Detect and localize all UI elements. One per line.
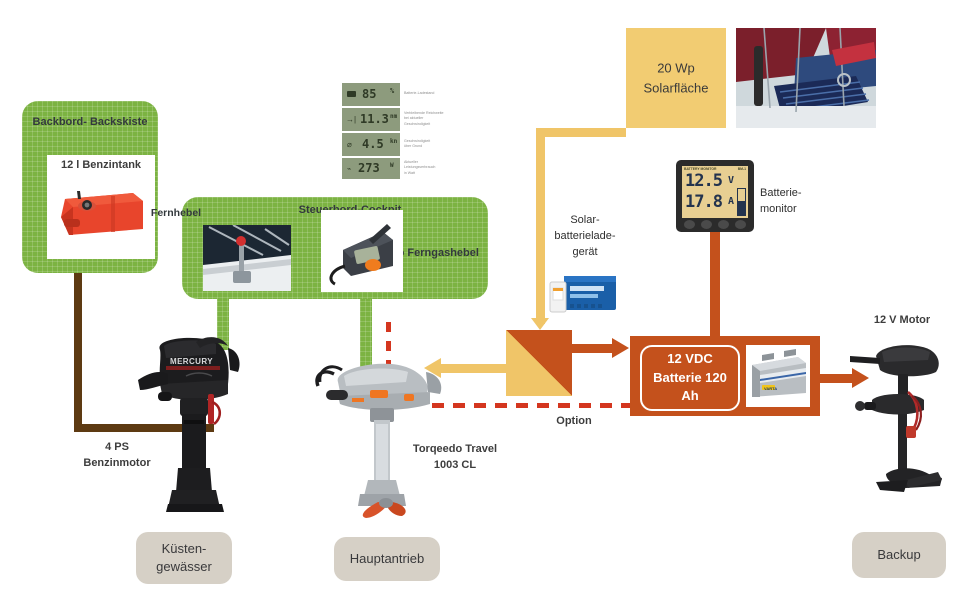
group-backbord-backskiste[interactable]: Backbord- Backskiste 12 l Benzintank bbox=[22, 101, 158, 273]
diagram-canvas: Backbord- Backskiste 12 l Benzintank bbox=[0, 0, 972, 600]
battery-monitor-current-unit: A bbox=[728, 196, 734, 207]
node-power-switch[interactable] bbox=[506, 330, 572, 396]
lcd-row-1-value: 11.3 bbox=[360, 112, 389, 126]
label-solar-charger: Solar- batterielade- gerät bbox=[538, 213, 632, 261]
throttle-lever-icon bbox=[203, 225, 291, 291]
device-battery-monitor[interactable]: BATTERY MONITOR BM-1 12.5 V 17.8 A bbox=[676, 160, 754, 232]
monitor-button-1-icon[interactable] bbox=[684, 220, 695, 229]
speed-icon: ⌀ bbox=[347, 140, 352, 149]
group-steuerbord-cockpit[interactable]: Fernhebel Steuerbord-Cockpit Torqeedo Fe… bbox=[182, 197, 488, 299]
battery-monitor-buttons[interactable] bbox=[684, 220, 746, 229]
battery-level-gauge-icon bbox=[737, 188, 746, 216]
outboard-motor-icon: MERCURY bbox=[124, 332, 254, 520]
lcd-row-2-desc: Geschwindigkeit über Grund bbox=[404, 139, 430, 150]
arrowhead-solar-down bbox=[531, 318, 549, 330]
pill-hauptantrieb[interactable]: Hauptantrieb bbox=[334, 537, 440, 581]
lcd-row-3-value: 273 bbox=[358, 161, 380, 175]
trolling-motor-icon bbox=[846, 330, 958, 520]
lcd-row-2-value: 4.5 bbox=[362, 137, 384, 151]
battery-monitor-model: BM-1 bbox=[738, 167, 746, 171]
node-battery-label: 12 VDC Batterie 120 Ah bbox=[640, 345, 740, 411]
label-torqeedo-travel: Torqeedo Travel 1003 CL bbox=[400, 442, 510, 474]
mppt-charger-icon bbox=[548, 268, 620, 318]
battery-monitor-voltage: 12.5 bbox=[685, 171, 722, 191]
lcd-row-3-desc: Aktueller Leistungsverbrauch in Watt bbox=[404, 160, 435, 176]
photo-varta-battery[interactable]: VARTA bbox=[746, 345, 810, 407]
remote-throttle-icon bbox=[321, 210, 403, 292]
monitor-button-3-icon[interactable] bbox=[718, 220, 729, 229]
group-battery[interactable]: 12 VDC Batterie 120 Ah VARTA bbox=[630, 336, 820, 416]
lcd-row-0-unit: % bbox=[390, 87, 394, 95]
label-mercury: 4 PS Benzinmotor bbox=[62, 440, 172, 472]
connector-solar-horizontal bbox=[536, 128, 626, 137]
node-solar-area[interactable]: 20 Wp Solarfläche bbox=[626, 28, 726, 128]
lcd-row-2-panel: ⌀ 4.5 kn bbox=[342, 133, 400, 156]
battery-icon bbox=[347, 91, 356, 97]
label-trolling-motor: 12 V Motor bbox=[858, 313, 946, 329]
photo-mercury-outboard[interactable]: MERCURY bbox=[124, 332, 254, 520]
svg-text:VARTA: VARTA bbox=[764, 386, 777, 391]
lcd-row-3-unit: W bbox=[390, 162, 394, 169]
pill-backup[interactable]: Backup bbox=[852, 532, 946, 578]
power-icon: ⌁ bbox=[347, 165, 351, 173]
lcd-row-2-unit: kn bbox=[390, 138, 397, 145]
photo-fernhebel[interactable] bbox=[203, 225, 291, 291]
lcd-row-0-value: 85 bbox=[362, 87, 376, 101]
group-backbord-caption: Backbord- Backskiste bbox=[22, 114, 158, 131]
lcd-row-3-panel: ⌁ 273 W bbox=[342, 158, 400, 179]
arrowhead-battery-left-in bbox=[612, 338, 629, 358]
electric-outboard-icon bbox=[308, 346, 458, 520]
photo-trolling-motor[interactable] bbox=[846, 330, 958, 520]
photo-benzintank-title: 12 l Benzintank bbox=[47, 159, 155, 171]
battery-monitor-screen: BATTERY MONITOR BM-1 12.5 V 17.8 A bbox=[682, 166, 748, 218]
lcd-row-1-panel: →| 11.3 nm bbox=[342, 108, 400, 131]
monitor-button-4-icon[interactable] bbox=[735, 220, 746, 229]
connector-monitor-to-battery bbox=[710, 228, 720, 338]
battery-icon: VARTA bbox=[746, 345, 810, 407]
label-option: Option bbox=[524, 414, 624, 430]
lcd-row-0-panel: 85 % bbox=[342, 83, 400, 106]
mercury-brand-text: MERCURY bbox=[170, 357, 213, 366]
range-icon: →| bbox=[346, 115, 356, 124]
torqeedo-display-card[interactable]: 85 % Batterie-Ladestand →| 11.3 nm Verbl… bbox=[338, 80, 466, 180]
monitor-button-2-icon[interactable] bbox=[701, 220, 712, 229]
dashed-option-horizontal bbox=[432, 403, 630, 408]
photo-torqeedo-travel[interactable] bbox=[308, 346, 458, 520]
label-fernhebel: Fernhebel bbox=[86, 206, 266, 222]
lcd-row-0-desc: Batterie-Ladestand bbox=[404, 91, 434, 96]
lcd-row-1-unit: nm bbox=[390, 113, 397, 120]
lcd-row-1-desc: Verbleibende Reichweite bei aktueller Ge… bbox=[404, 111, 444, 127]
battery-monitor-voltage-unit: V bbox=[728, 175, 734, 186]
pill-kuestengewaesser[interactable]: Küsten- gewässer bbox=[136, 532, 232, 584]
solar-panel-photo-icon bbox=[736, 28, 876, 128]
battery-monitor-current: 17.8 bbox=[685, 192, 722, 212]
node-solar-area-label: 20 Wp Solarfläche bbox=[626, 59, 726, 98]
connector-backbord-vertical bbox=[74, 272, 82, 432]
photo-solar-panel[interactable] bbox=[736, 28, 876, 128]
label-batterie-monitor: Batterie- monitor bbox=[760, 186, 840, 218]
photo-torqeedo-remote[interactable] bbox=[321, 210, 403, 292]
power-switch-triangle-icon bbox=[506, 330, 572, 396]
photo-solar-charger[interactable] bbox=[548, 268, 620, 318]
